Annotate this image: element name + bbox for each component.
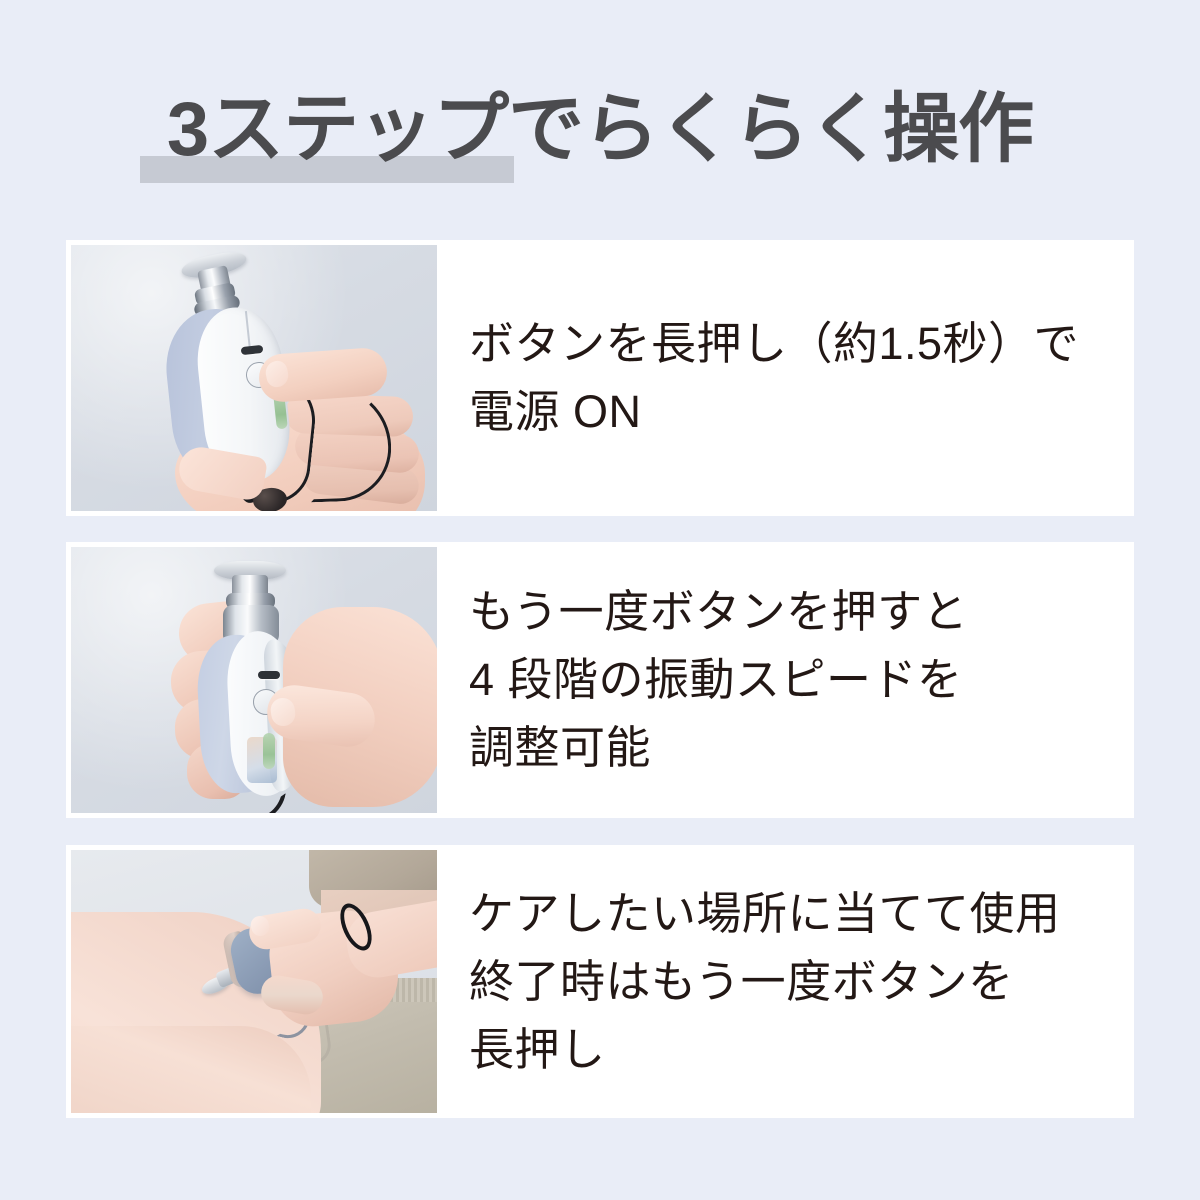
step-2-line-3: 調整可能 <box>469 714 1129 782</box>
step-3-line-2: 終了時はもう一度ボタンを <box>469 948 1129 1016</box>
step-2-line-2: 4 段階の振動スピードを <box>469 646 1129 714</box>
page-title-area: 3ステップでらくらく操作 <box>0 78 1200 188</box>
step-3-photo-apply-to-thigh <box>71 850 437 1113</box>
step-card-3: ケアしたい場所に当てて使用 終了時はもう一度ボタンを 長押し <box>66 845 1134 1118</box>
person-lower-leg <box>71 1026 311 1113</box>
step-2-photo-button-press-again <box>71 547 437 813</box>
step-2-line-1: もう一度ボタンを押すと <box>469 578 1129 646</box>
step-card-2: もう一度ボタンを押すと 4 段階の振動スピードを 調整可能 <box>66 542 1134 818</box>
device-usb-c-port <box>258 671 280 679</box>
step-1-photo-button-long-press <box>71 245 437 511</box>
step-1-line-1: ボタンを長押し（約1.5秒）で <box>469 310 1129 378</box>
step-3-line-3: 長押し <box>469 1016 1129 1084</box>
step-1-text: ボタンを長押し（約1.5秒）で 電源 ON <box>437 245 1129 511</box>
device-led-indicator <box>263 733 275 769</box>
page-title: 3ステップでらくらく操作 <box>0 78 1200 182</box>
step-2-text: もう一度ボタンを押すと 4 段階の振動スピードを 調整可能 <box>437 547 1129 813</box>
step-card-1: ボタンを長押し（約1.5秒）で 電源 ON <box>66 240 1134 516</box>
step-3-line-1: ケアしたい場所に当てて使用 <box>469 880 1129 948</box>
step-1-line-2: 電源 ON <box>469 378 1129 446</box>
step-3-text: ケアしたい場所に当てて使用 終了時はもう一度ボタンを 長押し <box>437 850 1129 1113</box>
